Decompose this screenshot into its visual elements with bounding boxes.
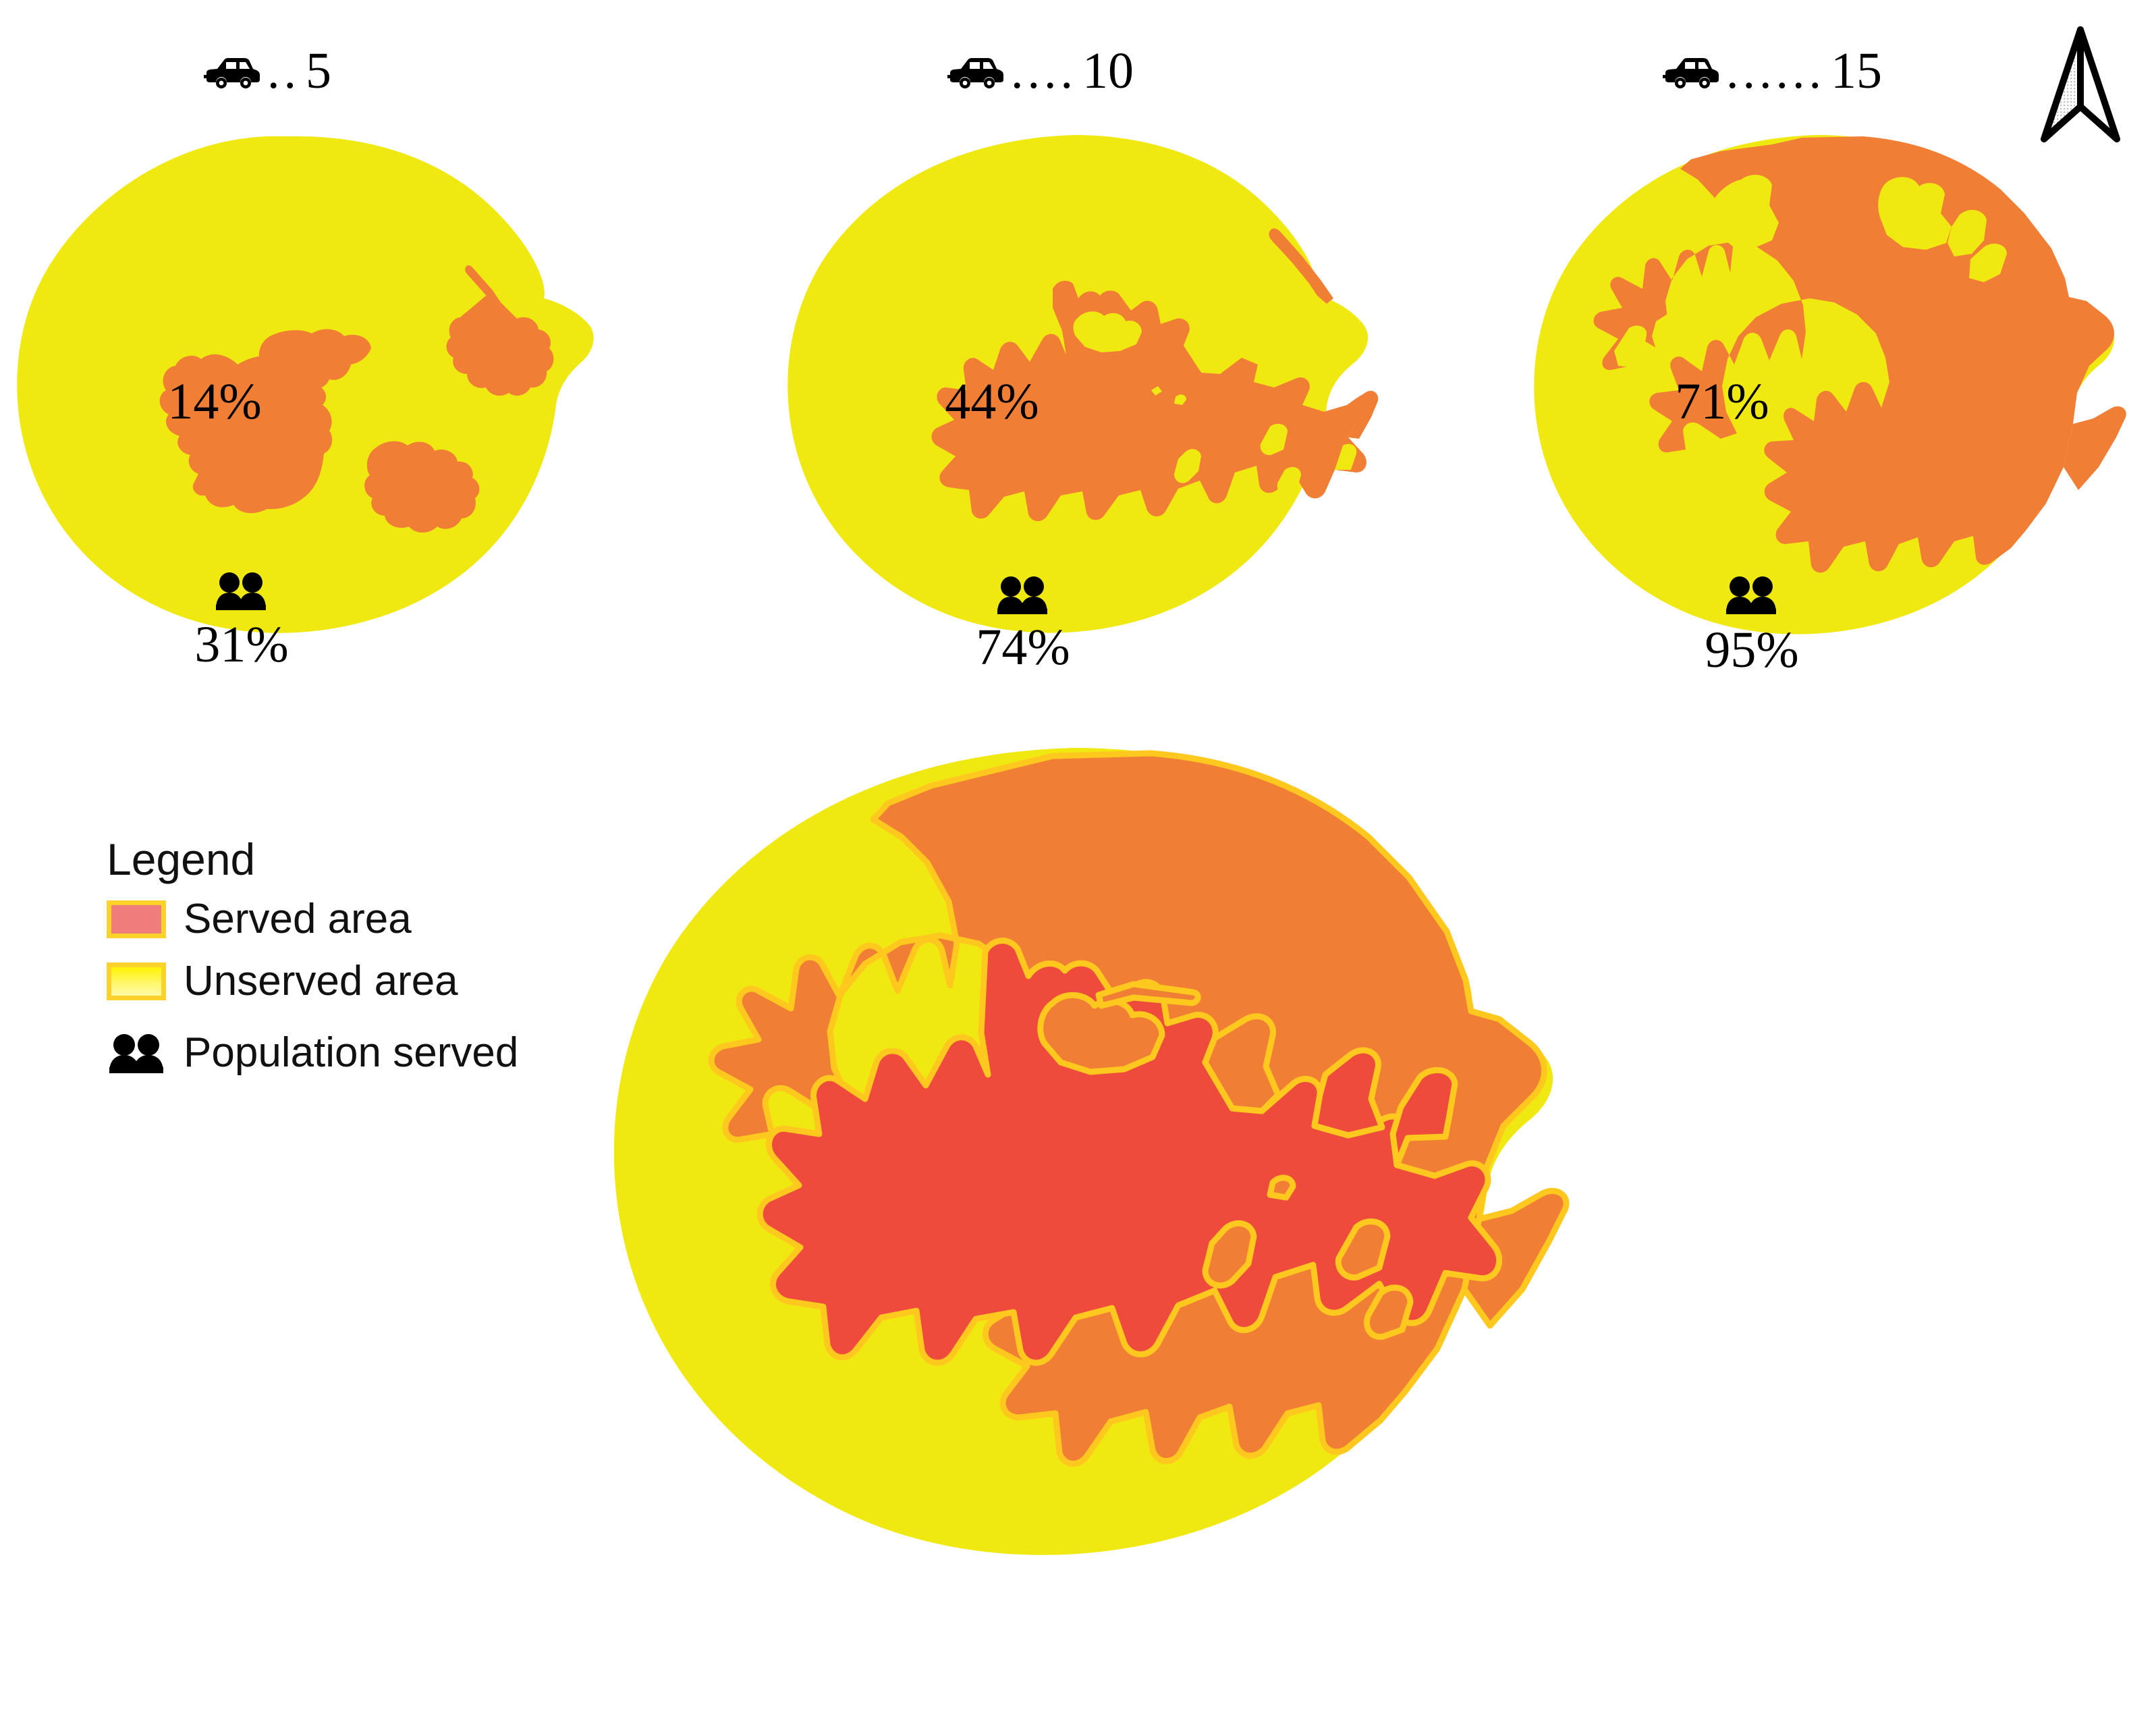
dots-5min: ..: [267, 47, 300, 97]
car-icon: [202, 53, 262, 90]
legend-item-served-area: Served area: [107, 894, 518, 945]
map-svg-10min: [769, 121, 1390, 682]
map-svg-combined: [580, 729, 1606, 1728]
area-pct-10min: 44%: [931, 373, 1053, 431]
legend-title: Legend: [107, 837, 518, 882]
population-pct-5min: 31%: [181, 616, 302, 674]
car-icon: [946, 53, 1005, 90]
legend-label-population-served: Population served: [184, 1032, 518, 1074]
map-panel-10min: [769, 121, 1390, 682]
legend-label-served-area: Served area: [184, 898, 412, 940]
area-pct-15min: 71%: [1661, 373, 1783, 431]
drive-time-5: 5: [306, 42, 331, 101]
map-svg-5min: [0, 121, 621, 682]
legend-label-unserved-area: Unserved area: [184, 960, 458, 1002]
map-panel-combined: [580, 729, 1606, 1728]
legend-item-unserved-area: Unserved area: [107, 956, 518, 1007]
panel-header-10min: .... 10: [946, 42, 1134, 101]
served-area-swatch: [107, 900, 166, 938]
population-pct-15min: 95%: [1691, 621, 1813, 680]
legend-item-population-served: Population served: [107, 1027, 518, 1079]
map-panel-15min: [1512, 121, 2146, 682]
panel-header-15min: ...... 15: [1661, 42, 1882, 101]
panel-header-5min: .. 5: [202, 42, 331, 101]
population-icon-10min: [996, 575, 1049, 614]
unserved-area-swatch: [107, 963, 166, 1000]
car-icon: [1661, 53, 1721, 90]
population-icon-5min: [215, 571, 267, 610]
dots-15min: ......: [1726, 47, 1825, 97]
drive-time-15: 15: [1831, 42, 1882, 101]
map-svg-15min: [1512, 121, 2146, 682]
north-arrow-icon: [2033, 20, 2128, 148]
legend: Legend Served area Unserved area Populat…: [107, 837, 518, 1089]
population-icon: [107, 1033, 166, 1073]
population-pct-10min: 74%: [962, 618, 1084, 677]
drive-time-10: 10: [1082, 42, 1134, 101]
area-pct-5min: 14%: [154, 373, 275, 431]
population-icon-15min: [1725, 575, 1777, 614]
map-panel-5min: [0, 121, 621, 682]
dots-10min: ....: [1011, 47, 1077, 97]
